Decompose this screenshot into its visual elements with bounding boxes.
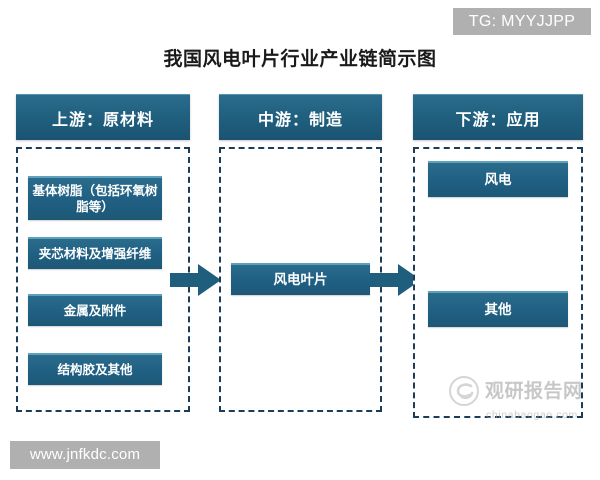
- item-box-wind-power[interactable]: 风电: [428, 161, 568, 197]
- watermark-chinabaogao: 观研报告网 chinabaogao.com: [448, 375, 593, 423]
- item-box-core-material[interactable]: 夹芯材料及增强纤维: [28, 237, 162, 269]
- arrow-upstream-to-midstream-icon: [170, 263, 222, 297]
- item-box-structural-adhesive[interactable]: 结构胶及其他: [28, 353, 162, 385]
- column-downstream: 下游：应用 风电 其他: [413, 94, 583, 418]
- column-header-upstream: 上游：原材料: [16, 94, 190, 140]
- item-box-wind-turbine-blade[interactable]: 风电叶片: [231, 263, 370, 295]
- tg-tag-badge: TG: MYYJJPP: [453, 8, 591, 35]
- column-body-midstream: 风电叶片: [219, 147, 382, 412]
- diagram-canvas: TG: MYYJJPP 我国风电叶片行业产业链简示图 上游：原材料 基体树脂（包…: [0, 0, 600, 480]
- watermark-brand: 观研报告网: [485, 382, 583, 401]
- swirl-circle-icon: [448, 375, 480, 407]
- item-box-metal-parts[interactable]: 金属及附件: [28, 294, 162, 326]
- page-title: 我国风电叶片行业产业链简示图: [0, 44, 600, 71]
- column-header-midstream: 中游：制造: [219, 94, 382, 140]
- site-url-badge: www.jnfkdc.com: [10, 441, 160, 469]
- watermark-url: chinabaogao.com: [486, 409, 593, 421]
- item-box-base-resin[interactable]: 基体树脂（包括环氧树脂等）: [28, 176, 162, 220]
- item-box-other[interactable]: 其他: [428, 291, 568, 327]
- column-body-upstream: 基体树脂（包括环氧树脂等） 夹芯材料及增强纤维 金属及附件 结构胶及其他: [16, 147, 190, 412]
- column-header-downstream: 下游：应用: [413, 94, 583, 140]
- column-midstream: 中游：制造 风电叶片: [219, 94, 382, 412]
- column-upstream: 上游：原材料 基体树脂（包括环氧树脂等） 夹芯材料及增强纤维 金属及附件 结构胶…: [16, 94, 190, 412]
